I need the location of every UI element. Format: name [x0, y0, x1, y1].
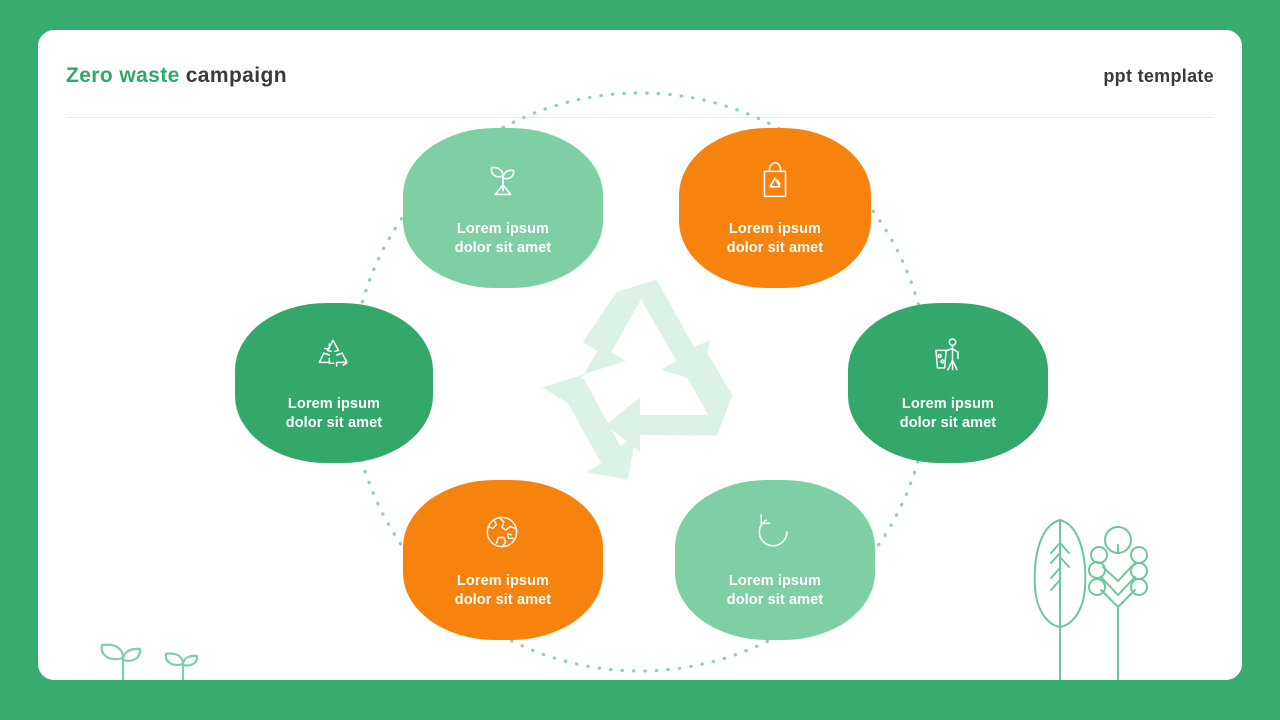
cycle-node-2[interactable]: Lorem ipsum dolor sit amet	[679, 128, 871, 288]
sprouts-line-art-decoration	[78, 630, 248, 680]
cycle-node-3[interactable]: Lorem ipsum dolor sit amet	[848, 303, 1048, 463]
cycle-node-3-label: Lorem ipsum dolor sit amet	[900, 395, 996, 433]
cycle-node-1-label: Lorem ipsum dolor sit amet	[455, 220, 551, 258]
dotted-connector-ring	[38, 30, 1242, 680]
person-trash-bin-icon	[925, 333, 971, 379]
sprout-icon	[480, 158, 526, 204]
globe-earth-icon	[480, 510, 526, 556]
cycle-diagram: Lorem ipsum dolor sit amet Lorem ipsum d…	[38, 30, 1242, 680]
shopping-bag-recycle-icon	[752, 158, 798, 204]
circular-arrow-reuse-icon	[752, 510, 798, 556]
cycle-node-1[interactable]: Lorem ipsum dolor sit amet	[403, 128, 603, 288]
cycle-node-6-label: Lorem ipsum dolor sit amet	[286, 395, 382, 433]
cycle-node-4-label: Lorem ipsum dolor sit amet	[727, 572, 823, 610]
cycle-node-2-label: Lorem ipsum dolor sit amet	[727, 220, 823, 258]
cycle-node-5-label: Lorem ipsum dolor sit amet	[455, 572, 551, 610]
plants-line-art-decoration	[1013, 485, 1158, 680]
slide-root: Zero wastecampaign ppt template	[0, 0, 1280, 720]
cycle-node-4[interactable]: Lorem ipsum dolor sit amet	[675, 480, 875, 640]
recycle-arrows-icon	[311, 333, 357, 379]
recycle-symbol-icon	[530, 273, 750, 493]
cycle-node-5[interactable]: Lorem ipsum dolor sit amet	[403, 480, 603, 640]
slide-card: Zero wastecampaign ppt template	[38, 30, 1242, 680]
cycle-node-6[interactable]: Lorem ipsum dolor sit amet	[235, 303, 433, 463]
